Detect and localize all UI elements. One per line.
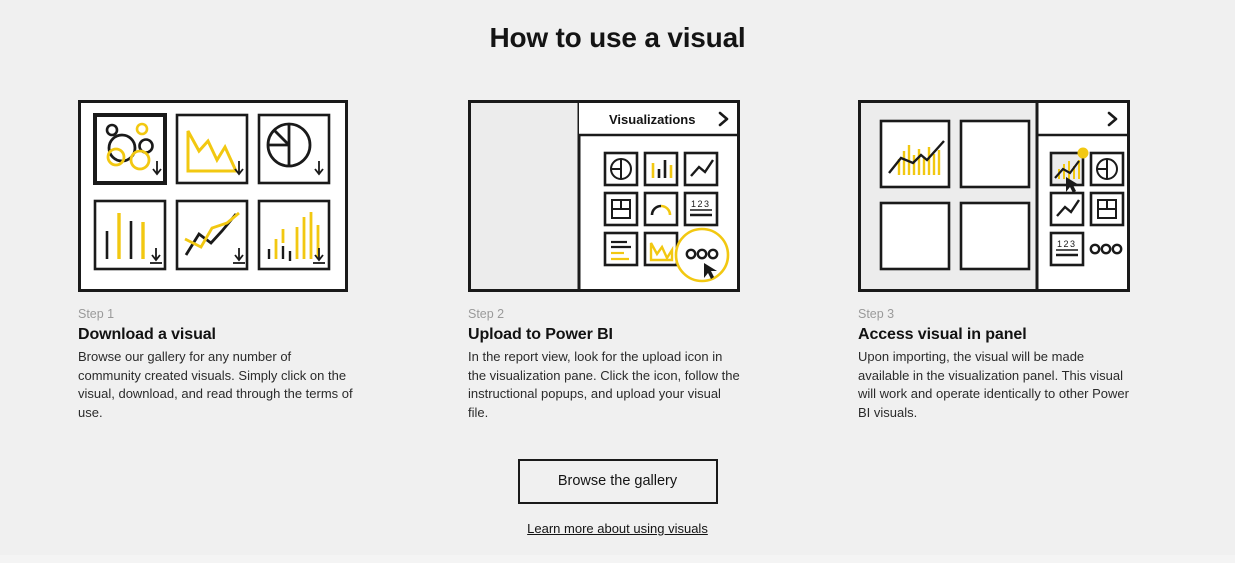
browse-gallery-button[interactable]: Browse the gallery xyxy=(518,459,718,504)
new-visual-dot xyxy=(1078,148,1089,159)
step-card-2: Visualizations xyxy=(468,100,768,422)
canvas-tile-4 xyxy=(961,203,1029,269)
page-title: How to use a visual xyxy=(0,22,1235,54)
step-card-3: 123 Step 3 Access visual in panel Upon i… xyxy=(858,100,1158,422)
pane-icon-line-chart xyxy=(685,153,717,185)
step-1-heading: Download a visual xyxy=(78,324,353,345)
svg-text:123: 123 xyxy=(1057,239,1077,249)
step-1-label: Step 1 xyxy=(78,306,353,322)
thumb-column-chart xyxy=(259,201,329,269)
thumb-area-chart xyxy=(177,115,247,183)
thumb-line-chart xyxy=(177,201,247,269)
visualizations-pane-title: Visualizations xyxy=(609,112,695,127)
pane-icon-table xyxy=(605,233,637,265)
thumb-pie-chart xyxy=(259,115,329,183)
bottom-band xyxy=(0,555,1235,563)
step-3-text: Step 3 Access visual in panel Upon impor… xyxy=(858,306,1133,422)
pane-icon-more-options-highlight xyxy=(676,229,728,281)
step-3-body: Upon importing, the visual will be made … xyxy=(858,348,1133,422)
pane-icon-pie-chart xyxy=(1091,153,1123,185)
pane-icon-pie-chart xyxy=(605,153,637,185)
step-3-heading: Access visual in panel xyxy=(858,324,1133,345)
step-3-label: Step 3 xyxy=(858,306,1133,322)
pane-icon-card-number: 123 xyxy=(1051,233,1083,265)
learn-more-link[interactable]: Learn more about using visuals xyxy=(527,521,708,536)
step-2-label: Step 2 xyxy=(468,306,743,322)
pane-icon-area-chart xyxy=(645,233,677,265)
step-1-illustration xyxy=(78,100,348,292)
step-2-heading: Upload to Power BI xyxy=(468,324,743,345)
step-1-body: Browse our gallery for any number of com… xyxy=(78,348,353,422)
step-3-illustration: 123 xyxy=(858,100,1130,292)
cta-container: Browse the gallery xyxy=(0,459,1235,504)
steps-row: Step 1 Download a visual Browse our gall… xyxy=(78,100,1158,422)
step-2-body: In the report view, look for the upload … xyxy=(468,348,743,422)
pane-icon-line-chart xyxy=(1051,193,1083,225)
thumb-bar-chart xyxy=(95,201,165,269)
pane-icon-treemap xyxy=(605,193,637,225)
step-2-text: Step 2 Upload to Power BI In the report … xyxy=(468,306,743,422)
pane-icon-column-chart xyxy=(645,153,677,185)
canvas-tile-2 xyxy=(961,121,1029,187)
svg-text:123: 123 xyxy=(691,199,711,209)
pane-icon-custom-combo-visual xyxy=(1051,148,1089,194)
thumb-bubble-chart xyxy=(95,115,165,183)
canvas-tile-3 xyxy=(881,203,949,269)
how-to-use-a-visual-page: How to use a visual xyxy=(0,0,1235,563)
report-canvas xyxy=(471,103,579,289)
step-card-1: Step 1 Download a visual Browse our gall… xyxy=(78,100,378,422)
step-1-text: Step 1 Download a visual Browse our gall… xyxy=(78,306,353,422)
pane-icon-gauge xyxy=(645,193,677,225)
pane-icon-treemap xyxy=(1091,193,1123,225)
pane-icon-card-number: 123 xyxy=(685,193,717,225)
step-2-illustration: Visualizations xyxy=(468,100,740,292)
link-container: Learn more about using visuals xyxy=(0,520,1235,538)
